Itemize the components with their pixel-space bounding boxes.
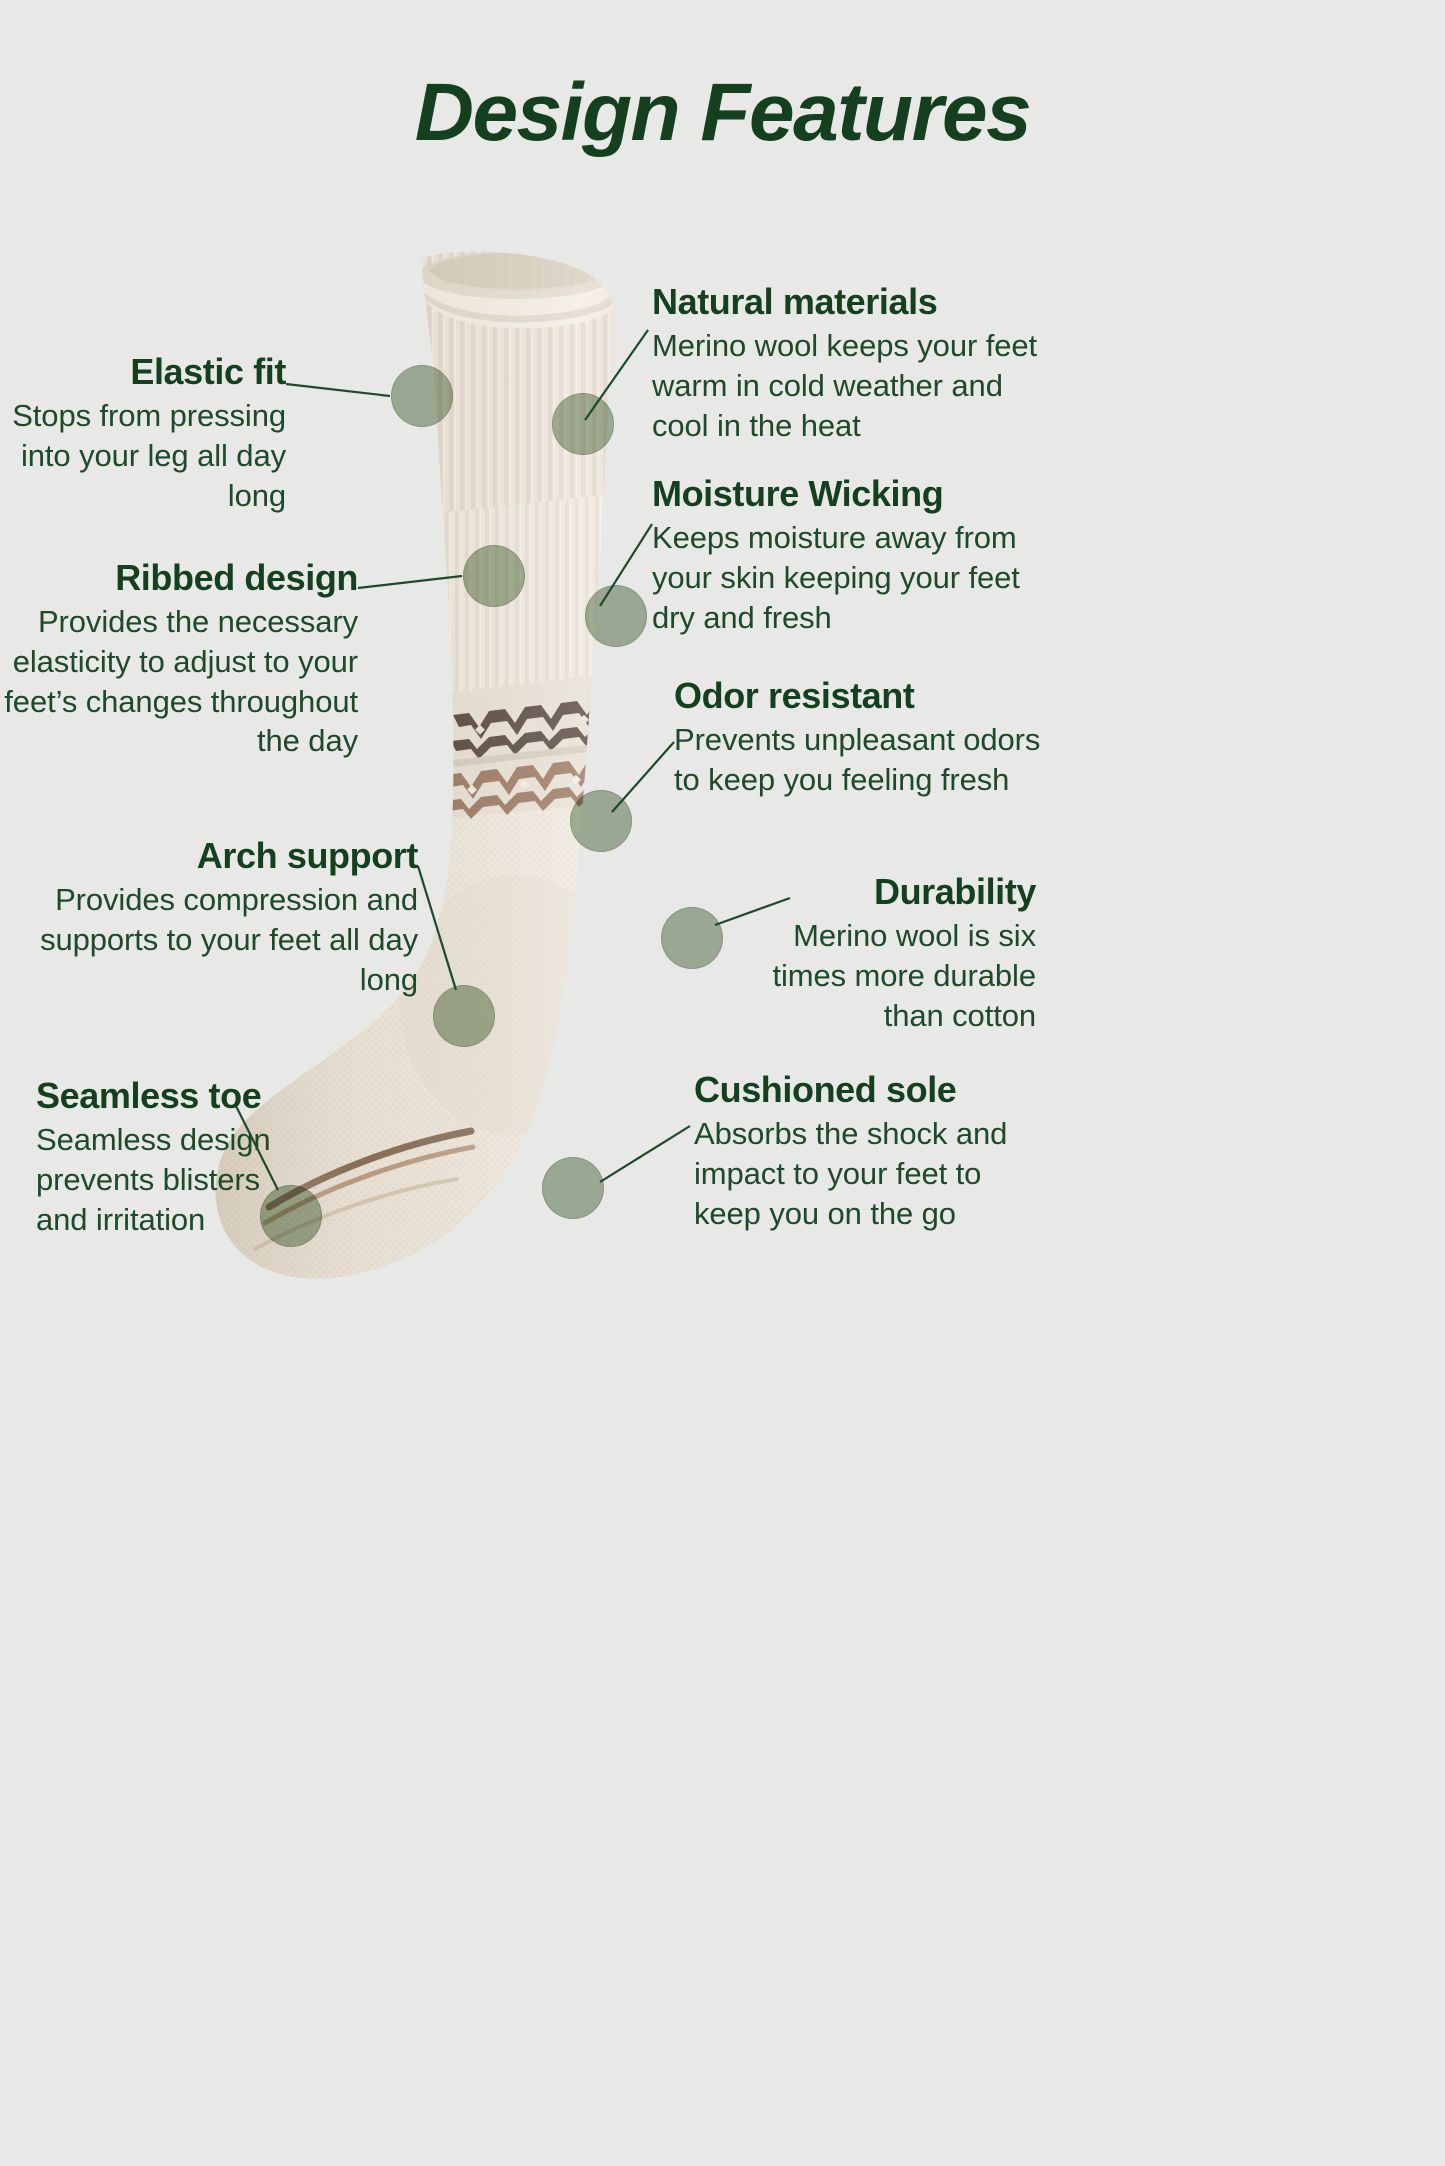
callout-heading: Ribbed design [0, 558, 358, 598]
marker-cushioned-sole[interactable] [542, 1157, 604, 1219]
callout-heading: Natural materials [652, 282, 1052, 322]
callout-odor-resistant: Odor resistant Prevents unpleasant odors… [674, 676, 1044, 800]
callout-heading: Odor resistant [674, 676, 1044, 716]
marker-moisture-wicking[interactable] [585, 585, 647, 647]
callout-seamless-toe: Seamless toe Seamless design prevents bl… [36, 1076, 316, 1239]
callout-heading: Cushioned sole [694, 1070, 1024, 1110]
callout-elastic-fit: Elastic fit Stops from pressing into you… [0, 352, 286, 515]
callout-body: Merino wool is six times more durable th… [754, 916, 1036, 1035]
callout-heading: Elastic fit [0, 352, 286, 392]
callout-body: Provides the necessary elasticity to adj… [0, 602, 358, 761]
infographic-canvas: Design Features [0, 0, 1445, 2166]
marker-elastic-fit[interactable] [391, 365, 453, 427]
callout-heading: Seamless toe [36, 1076, 316, 1116]
callout-natural-materials: Natural materials Merino wool keeps your… [652, 282, 1052, 445]
callout-body: Keeps moisture away from your skin keepi… [652, 518, 1022, 637]
marker-durability[interactable] [661, 907, 723, 969]
callout-heading: Durability [754, 872, 1036, 912]
callout-body: Seamless design prevents blisters and ir… [36, 1120, 316, 1239]
page-title: Design Features [0, 72, 1445, 154]
callout-heading: Moisture Wicking [652, 474, 1022, 514]
callout-body: Absorbs the shock and impact to your fee… [694, 1114, 1024, 1233]
callout-body: Merino wool keeps your feet warm in cold… [652, 326, 1052, 445]
callout-cushioned-sole: Cushioned sole Absorbs the shock and imp… [694, 1070, 1024, 1233]
marker-arch-support[interactable] [433, 985, 495, 1047]
callout-moisture-wicking: Moisture Wicking Keeps moisture away fro… [652, 474, 1022, 637]
callout-body: Prevents unpleasant odors to keep you fe… [674, 720, 1044, 799]
callout-arch-support: Arch support Provides compression and su… [0, 836, 418, 999]
callout-body: Stops from pressing into your leg all da… [0, 396, 286, 515]
callout-body: Provides compression and supports to you… [0, 880, 418, 999]
marker-natural-materials[interactable] [552, 393, 614, 455]
callout-durability: Durability Merino wool is six times more… [754, 872, 1036, 1035]
callout-ribbed-design: Ribbed design Provides the necessary ela… [0, 558, 358, 761]
marker-ribbed-design[interactable] [463, 545, 525, 607]
marker-odor-resistant[interactable] [570, 790, 632, 852]
callout-heading: Arch support [0, 836, 418, 876]
